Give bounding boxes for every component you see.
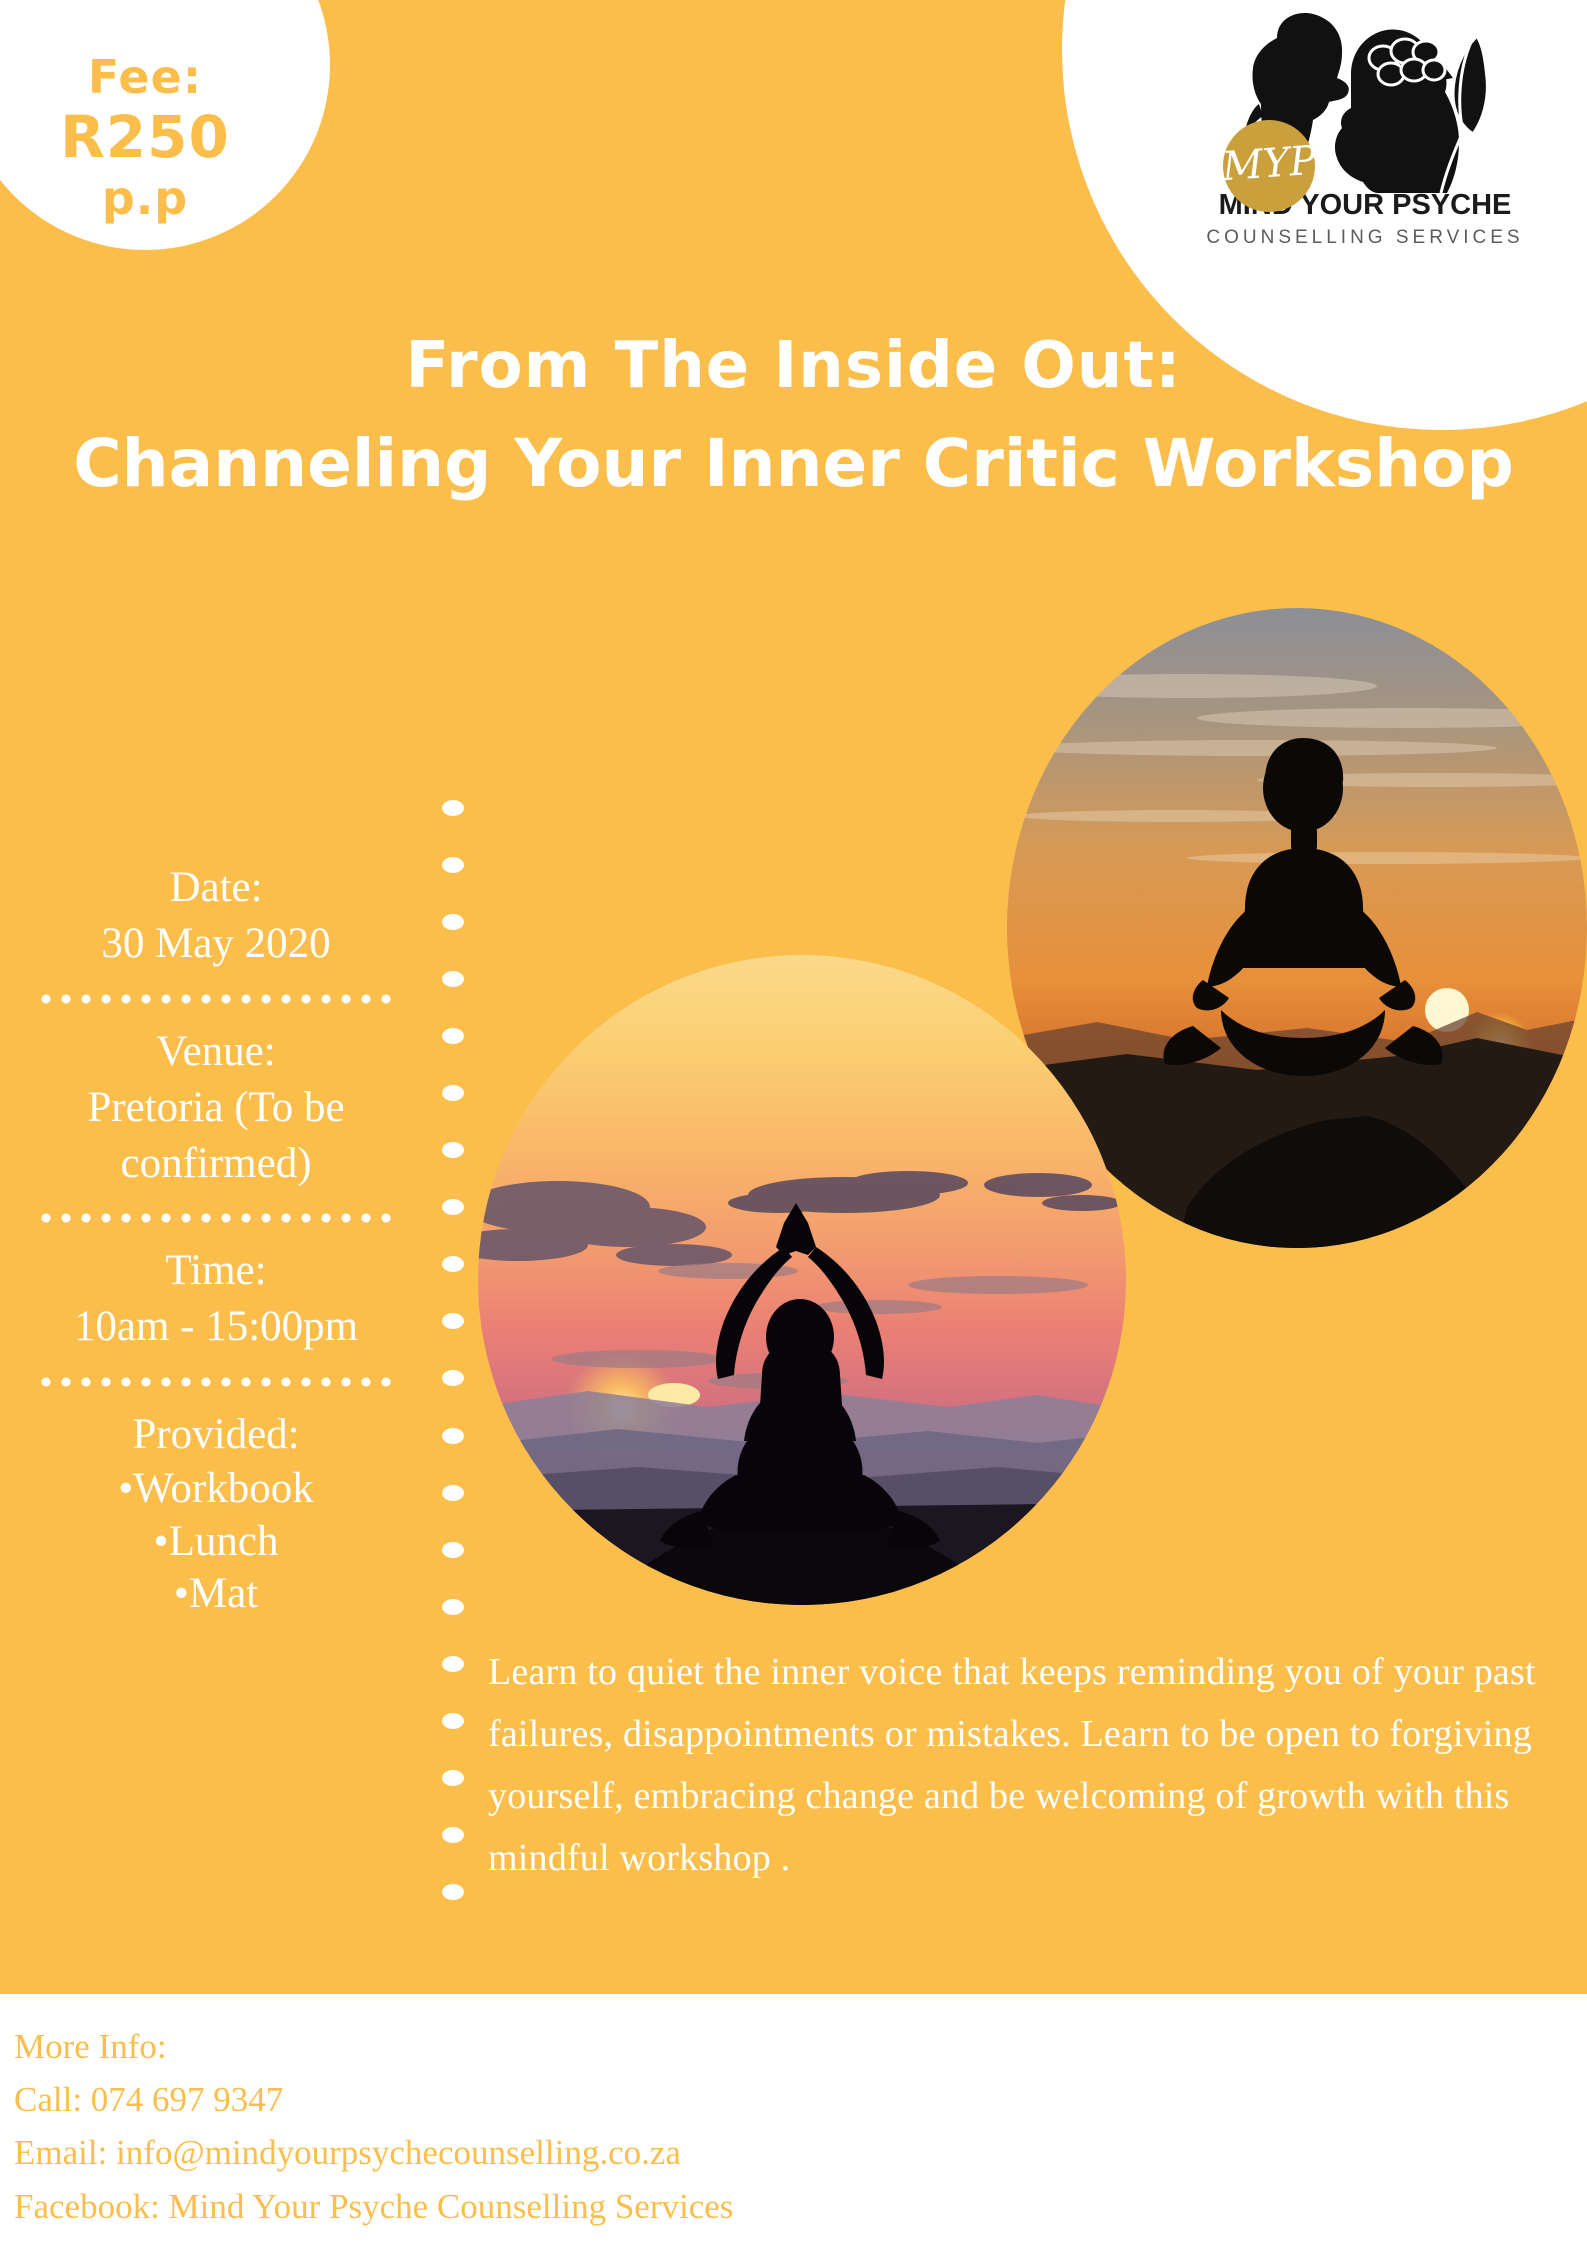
detail-provided: Provided: •Workbook •Lunch •Mat — [0, 1407, 432, 1620]
divider-dot — [442, 1485, 464, 1501]
title-line-1: From The Inside Out: — [0, 330, 1587, 404]
detail-provided-label: Provided: — [14, 1407, 418, 1463]
divider-dot — [442, 1770, 464, 1786]
logo-company-subtitle: COUNSELLING SERVICES — [1206, 227, 1523, 249]
dotted-separator-1 — [36, 994, 396, 1004]
dotted-separator-3 — [36, 1377, 396, 1387]
footer-email[interactable]: Email: info@mindyourpsychecounselling.co… — [14, 2126, 1587, 2179]
detail-date-label: Date: — [14, 860, 418, 916]
two-heads-brain-icon: MYP — [1215, 8, 1515, 193]
title-line-2: Channeling Your Inner Critic Workshop — [0, 426, 1587, 502]
divider-dot — [442, 800, 464, 816]
divider-dot — [442, 1256, 464, 1272]
provided-item: •Lunch — [14, 1516, 418, 1568]
divider-dot — [442, 1142, 464, 1158]
provided-item: •Mat — [14, 1568, 418, 1620]
contact-footer: More Info: Call: 074 697 9347 Email: inf… — [0, 1994, 1587, 2245]
brand-logo: MYP MIND YOUR PSYCHE COUNSELLING SERVICE… — [1185, 8, 1545, 249]
divider-dot — [442, 1542, 464, 1558]
detail-venue: Venue: Pretoria (To be confirmed) — [0, 1024, 432, 1192]
yoga-sunset-photo-bottom-left — [478, 955, 1126, 1605]
detail-venue-label: Venue: — [14, 1024, 418, 1080]
detail-time-label: Time: — [14, 1243, 418, 1299]
divider-dot — [442, 1884, 464, 1900]
footer-phone[interactable]: Call: 074 697 9347 — [14, 2073, 1587, 2126]
workshop-details-column: Date: 30 May 2020 Venue: Pretoria (To be… — [0, 860, 432, 1620]
divider-dot — [442, 1656, 464, 1672]
divider-dot — [442, 1199, 464, 1215]
divider-dot — [442, 914, 464, 930]
dotted-separator-2 — [36, 1213, 396, 1223]
logo-monogram-text: MYP — [1220, 138, 1317, 190]
fee-label: Fee: — [88, 53, 202, 101]
footer-more-info-label: More Info: — [14, 2020, 1587, 2073]
vertical-dot-divider — [438, 800, 468, 1900]
detail-time-value: 10am - 15:00pm — [14, 1299, 418, 1355]
fee-per-person: p.p — [102, 174, 188, 222]
workshop-description: Learn to quiet the inner voice that keep… — [488, 1642, 1558, 1890]
footer-facebook[interactable]: Facebook: Mind Your Psyche Counselling S… — [14, 2180, 1587, 2233]
detail-venue-value: Pretoria (To be confirmed) — [14, 1080, 418, 1192]
poster-canvas: MYP MIND YOUR PSYCHE COUNSELLING SERVICE… — [0, 0, 1587, 2245]
detail-date-value: 30 May 2020 — [14, 916, 418, 972]
divider-dot — [442, 1827, 464, 1843]
divider-dot — [442, 857, 464, 873]
divider-dot — [442, 1028, 464, 1044]
page-title: From The Inside Out: Channeling Your Inn… — [0, 330, 1587, 501]
divider-dot — [442, 1370, 464, 1386]
logo-monogram-badge: MYP — [1223, 120, 1315, 212]
provided-items-list: •Workbook •Lunch •Mat — [14, 1463, 418, 1620]
divider-dot — [442, 1428, 464, 1444]
provided-item: •Workbook — [14, 1463, 418, 1515]
detail-date: Date: 30 May 2020 — [0, 860, 432, 972]
detail-time: Time: 10am - 15:00pm — [0, 1243, 432, 1355]
divider-dot — [442, 1085, 464, 1101]
divider-dot — [442, 1599, 464, 1615]
divider-dot — [442, 1313, 464, 1329]
divider-dot — [442, 1713, 464, 1729]
divider-dot — [442, 971, 464, 987]
fee-amount: R250 — [60, 107, 230, 168]
